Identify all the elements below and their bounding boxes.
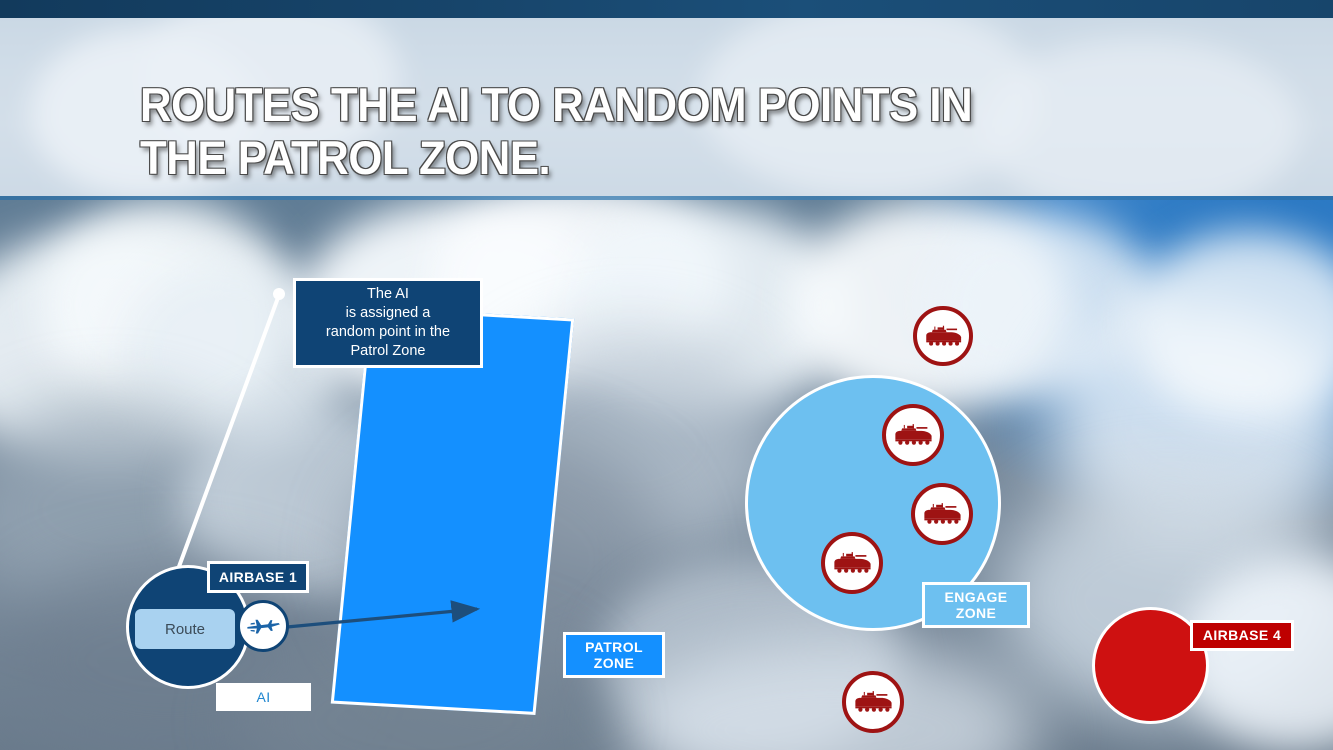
slide-canvas: ROUTES THE AI TO RANDOM POINTS IN THE PA… <box>0 0 1333 750</box>
vehicle-south[interactable] <box>842 671 904 733</box>
patrol-zone-label[interactable]: PATROL ZONE <box>563 632 665 678</box>
patrol-zone-shape[interactable] <box>331 307 575 715</box>
armored-vehicle-icon <box>892 414 934 456</box>
engage-zone-label-line-2: ZONE <box>956 605 997 621</box>
armored-vehicle-icon <box>852 681 894 723</box>
armored-vehicle-icon <box>921 493 963 535</box>
airbase-4-label-text: AIRBASE 4 <box>1203 627 1281 643</box>
armored-vehicle-icon <box>923 316 964 357</box>
ai-label-text: AI <box>256 689 270 705</box>
fighter-jet-icon <box>243 606 283 646</box>
patrol-zone-label-line-1: PATROL <box>585 639 643 655</box>
page-title: ROUTES THE AI TO RANDOM POINTS IN THE PA… <box>140 79 1126 184</box>
title-band-underline <box>0 196 1333 200</box>
vehicle-engage-low[interactable] <box>821 532 883 594</box>
patrol-zone-label-line-2: ZONE <box>594 655 635 671</box>
ai-jet-marker[interactable] <box>237 600 289 652</box>
vehicle-north[interactable] <box>913 306 973 366</box>
engage-zone-label[interactable]: ENGAGE ZONE <box>922 582 1030 628</box>
callout-text: The AI is assigned a random point in the… <box>326 285 450 362</box>
armored-vehicle-icon <box>831 542 873 584</box>
route-box[interactable]: Route <box>135 609 235 649</box>
airbase-4-label[interactable]: AIRBASE 4 <box>1190 620 1294 651</box>
airbase-1-label[interactable]: AIRBASE 1 <box>207 561 309 593</box>
vehicle-engage-top[interactable] <box>882 404 944 466</box>
engage-zone-label-line-1: ENGAGE <box>944 589 1007 605</box>
vehicle-engage-mid[interactable] <box>911 483 973 545</box>
ai-label[interactable]: AI <box>216 683 311 711</box>
callout-box[interactable]: The AI is assigned a random point in the… <box>293 278 483 368</box>
airbase-1-label-text: AIRBASE 1 <box>219 569 297 585</box>
top-accent-strip <box>0 0 1333 18</box>
